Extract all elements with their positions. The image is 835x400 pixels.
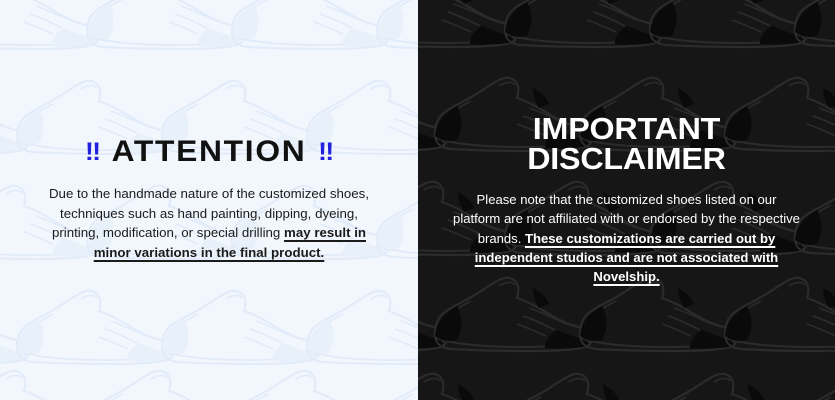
attention-content: ‼ATTENTION‼ Due to the handmade nature o…: [0, 137, 418, 262]
attention-headline: ‼ATTENTION‼: [28, 137, 391, 168]
disclaimer-content: IMPORTANT DISCLAIMER Please note that th…: [418, 114, 835, 287]
double-exclamation-left-icon: ‼: [85, 140, 100, 166]
attention-headline-text: ATTENTION: [112, 135, 307, 168]
disclaimer-body: Please note that the customized shoes li…: [452, 190, 801, 286]
attention-panel: ‼ATTENTION‼ Due to the handmade nature o…: [0, 0, 418, 400]
disclaimer-banner: ‼ATTENTION‼ Due to the handmade nature o…: [0, 0, 835, 400]
disclaimer-panel: IMPORTANT DISCLAIMER Please note that th…: [418, 0, 835, 400]
disclaimer-headline-line1: IMPORTANT: [445, 114, 808, 145]
attention-body: Due to the handmade nature of the custom…: [38, 184, 380, 263]
disclaimer-headline-line2: DISCLAIMER: [445, 144, 808, 175]
double-exclamation-right-icon: ‼: [318, 140, 333, 166]
disclaimer-headline: IMPORTANT DISCLAIMER: [445, 114, 808, 175]
